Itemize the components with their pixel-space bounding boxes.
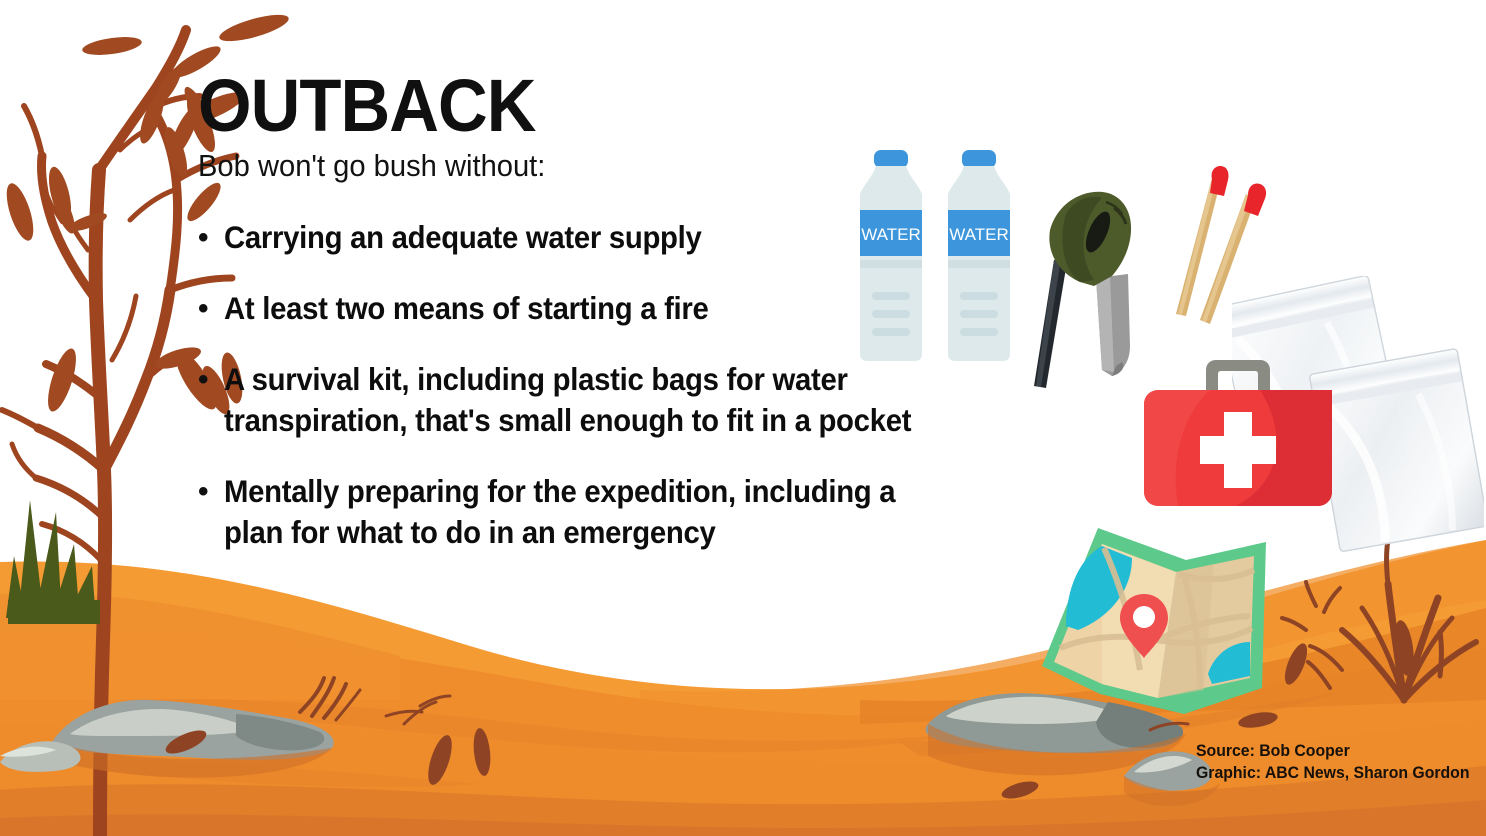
rock-far-left — [0, 741, 80, 772]
intro-line: Bob won't go bush without: — [198, 149, 1025, 183]
bullet-text: A survival kit, including plastic bags f… — [224, 359, 911, 441]
kit-handle — [1206, 360, 1270, 394]
bullet-text: Mentally preparing for the expedition, i… — [224, 471, 895, 553]
list-item: • At least two means of starting a fire — [198, 288, 1078, 329]
bullet-marker: • — [198, 471, 224, 512]
kit-body — [1144, 390, 1332, 506]
dry-shrubs-small — [1282, 582, 1340, 630]
bullet-text: Carrying an adequate water supply — [224, 217, 702, 258]
striker-blade — [1096, 274, 1130, 376]
text-block: OUTBACK Bob won't go bush without: • Car… — [198, 70, 1078, 553]
list-item: • Carrying an adequate water supply — [198, 217, 1078, 258]
dry-shrubs — [1308, 540, 1476, 700]
credit-block: Source: Bob Cooper Graphic: ABC News, Sh… — [1196, 740, 1469, 784]
first-aid-kit — [1140, 352, 1336, 512]
credit-graphic: Graphic: ABC News, Sharon Gordon — [1196, 762, 1469, 784]
list-item: • A survival kit, including plastic bags… — [198, 359, 1078, 441]
bullet-marker: • — [198, 359, 224, 400]
bullet-text: At least two means of starting a fire — [224, 288, 709, 329]
page-title: OUTBACK — [198, 70, 1016, 141]
infographic-canvas: OUTBACK Bob won't go bush without: • Car… — [0, 0, 1486, 836]
bullet-marker: • — [198, 288, 224, 329]
bullet-marker: • — [198, 217, 224, 258]
credit-source: Source: Bob Cooper — [1196, 740, 1469, 762]
list-item: • Mentally preparing for the expedition,… — [198, 471, 1078, 553]
